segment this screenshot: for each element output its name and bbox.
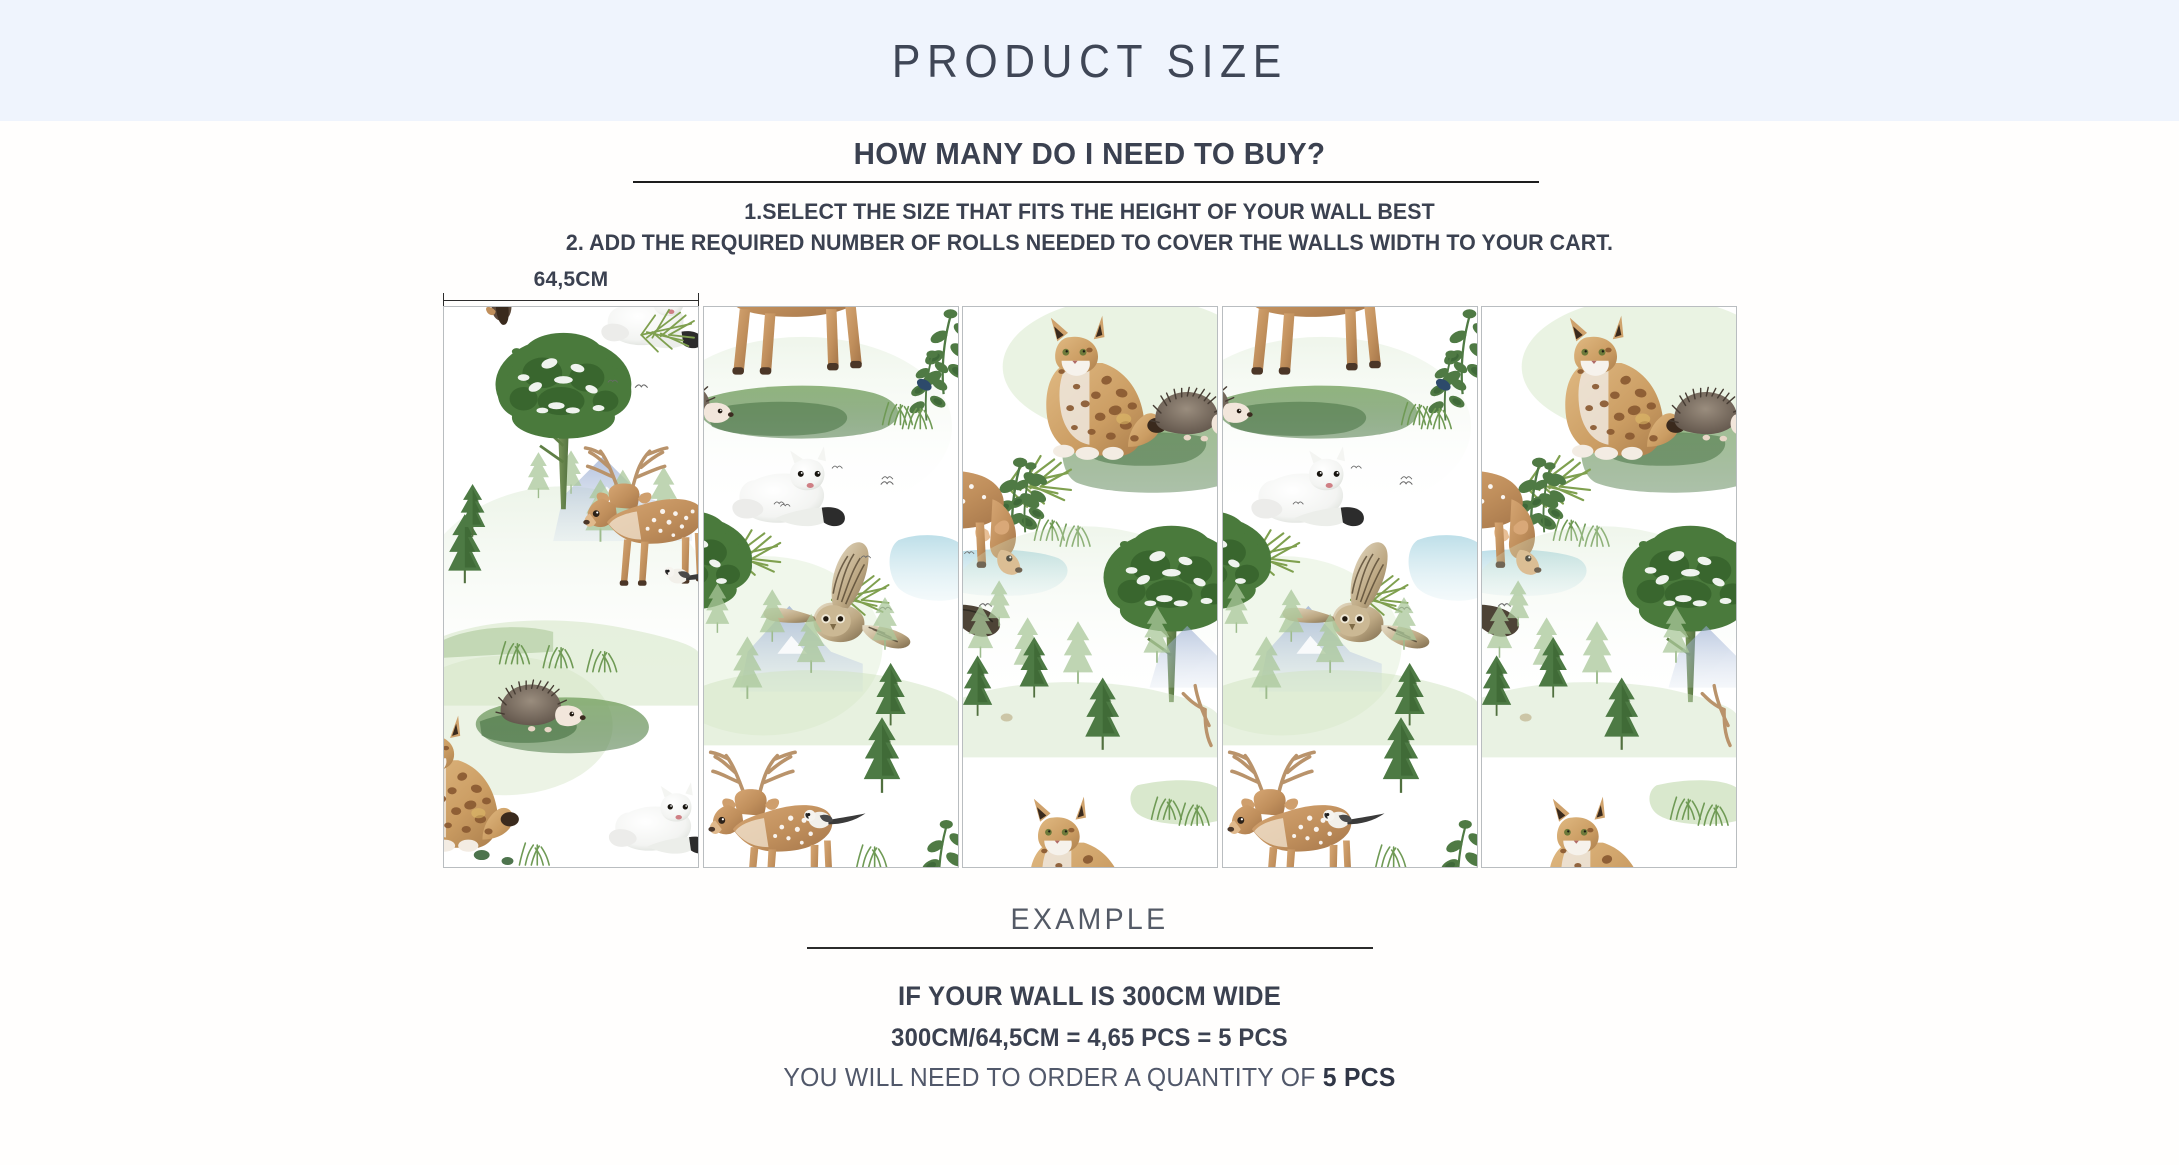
order-quantity-line: YOU WILL NEED TO ORDER A QUANTITY OF 5 P…: [54, 1062, 2124, 1093]
example-divider: [807, 947, 1373, 949]
wallpaper-roll-strip: [443, 306, 1737, 868]
example-calculation: 300CM/64,5CM = 4,65 PCS = 5 PCS: [54, 1018, 2124, 1058]
pattern-variant-b: [704, 307, 958, 867]
page-title: PRODUCT SIZE: [892, 34, 1288, 88]
section-heading: HOW MANY DO I NEED TO BUY?: [54, 136, 2124, 172]
roll-width-label: 64,5CM: [443, 268, 699, 292]
wallpaper-roll-preview-4[interactable]: [1222, 306, 1478, 868]
order-quantity-value: 5 PCS: [1323, 1062, 1396, 1092]
pattern-variant-a: [444, 307, 698, 867]
instruction-item-2: 2. ADD THE REQUIRED NUMBER OF ROLLS NEED…: [54, 227, 2124, 258]
dimension-bar: [443, 300, 699, 301]
instructions-list: 1.SELECT THE SIZE THAT FITS THE HEIGHT O…: [0, 196, 2179, 258]
example-wall-width: IF YOUR WALL IS 300CM WIDE: [54, 975, 2124, 1018]
wallpaper-roll-preview-2[interactable]: [703, 306, 959, 868]
header-band: PRODUCT SIZE: [0, 0, 2179, 121]
instruction-item-1: 1.SELECT THE SIZE THAT FITS THE HEIGHT O…: [54, 196, 2124, 227]
pattern-variant-b-repeat: [1223, 307, 1477, 867]
wallpaper-roll-preview-1[interactable]: [443, 306, 699, 868]
dimension-tick-right: [698, 293, 699, 307]
heading-divider: [633, 181, 1539, 183]
product-size-infographic: PRODUCT SIZE HOW MANY DO I NEED TO BUY? …: [0, 0, 2179, 1165]
wallpaper-roll-preview-3[interactable]: [962, 306, 1218, 868]
pattern-variant-c-repeat: [1482, 307, 1736, 867]
wallpaper-roll-preview-5[interactable]: [1481, 306, 1737, 868]
pattern-variant-c: [963, 307, 1217, 867]
dimension-line: [443, 293, 699, 307]
order-quantity-prefix: YOU WILL NEED TO ORDER A QUANTITY OF: [783, 1062, 1322, 1092]
example-title: EXAMPLE: [54, 903, 2124, 937]
example-body: IF YOUR WALL IS 300CM WIDE 300CM/64,5CM …: [0, 975, 2179, 1058]
